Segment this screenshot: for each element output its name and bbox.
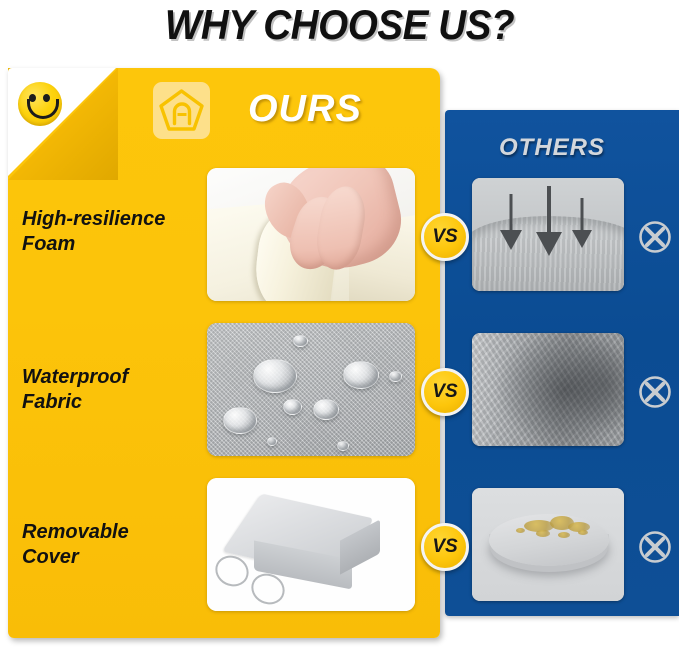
circled-x-icon-cover (637, 529, 673, 565)
smiley-face-icon (18, 82, 62, 126)
down-arrow-icon-2 (536, 186, 562, 256)
feature-label-fabric-line2: Fabric (22, 391, 82, 413)
ours-image-foam (207, 168, 415, 301)
circled-x-icon-foam (637, 219, 673, 255)
ours-image-cover (207, 478, 415, 611)
feature-label-fabric: Waterproof Fabric (22, 365, 207, 415)
circled-x-icon-fabric (637, 374, 673, 410)
infographic-canvas: WHY CHOOSE US? OTHERS OURS High-resilien… (0, 0, 679, 662)
others-image-foam (472, 178, 624, 291)
feature-label-cover: Removable Cover (22, 520, 207, 570)
vs-badge-fabric: VS (421, 368, 469, 416)
feature-label-fabric-line1: Waterproof (22, 366, 128, 388)
smiley-mouth (27, 99, 59, 119)
ours-image-fabric (207, 323, 415, 456)
feature-label-cover-line1: Removable (22, 521, 129, 543)
others-image-fabric (472, 333, 624, 446)
page-title: WHY CHOOSE US? (27, 2, 652, 48)
house-shield-icon (153, 82, 210, 139)
feature-label-foam-line1: High-resilience (22, 208, 165, 230)
others-image-cover (472, 488, 624, 601)
feature-label-foam: High-resilience Foam (22, 207, 207, 257)
vs-badge-cover: VS (421, 523, 469, 571)
feature-label-cover-line2: Cover (22, 546, 79, 568)
feature-label-foam-line2: Foam (22, 233, 75, 255)
ours-heading: OURS (248, 88, 362, 131)
down-arrow-icon-1 (500, 194, 522, 250)
vs-badge-foam: VS (421, 213, 469, 261)
down-arrow-icon-3 (572, 198, 592, 250)
others-heading: OTHERS (445, 134, 659, 162)
